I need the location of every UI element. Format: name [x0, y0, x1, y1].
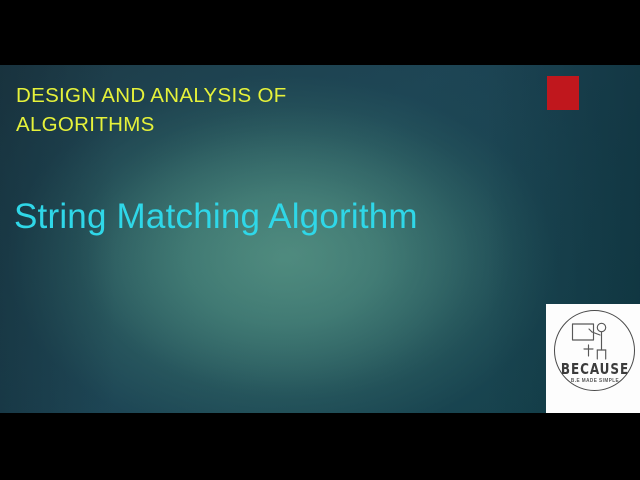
person-at-whiteboard-icon	[570, 320, 618, 362]
channel-logo-card: BECAUSE B.E MADE SIMPLE	[546, 304, 640, 413]
slide-subtitle: DESIGN AND ANALYSIS OF ALGORITHMS	[16, 81, 446, 139]
video-player-frame: DESIGN AND ANALYSIS OF ALGORITHMS String…	[0, 0, 640, 480]
letterbox-bottom	[0, 413, 640, 480]
logo-tagline: B.E MADE SIMPLE	[551, 378, 639, 384]
slide-title: String Matching Algorithm	[14, 196, 554, 238]
red-accent-square	[547, 76, 579, 110]
presentation-slide: DESIGN AND ANALYSIS OF ALGORITHMS String…	[0, 65, 640, 413]
logo-wordmark: BECAUSE	[553, 360, 637, 378]
letterbox-top	[0, 0, 640, 65]
